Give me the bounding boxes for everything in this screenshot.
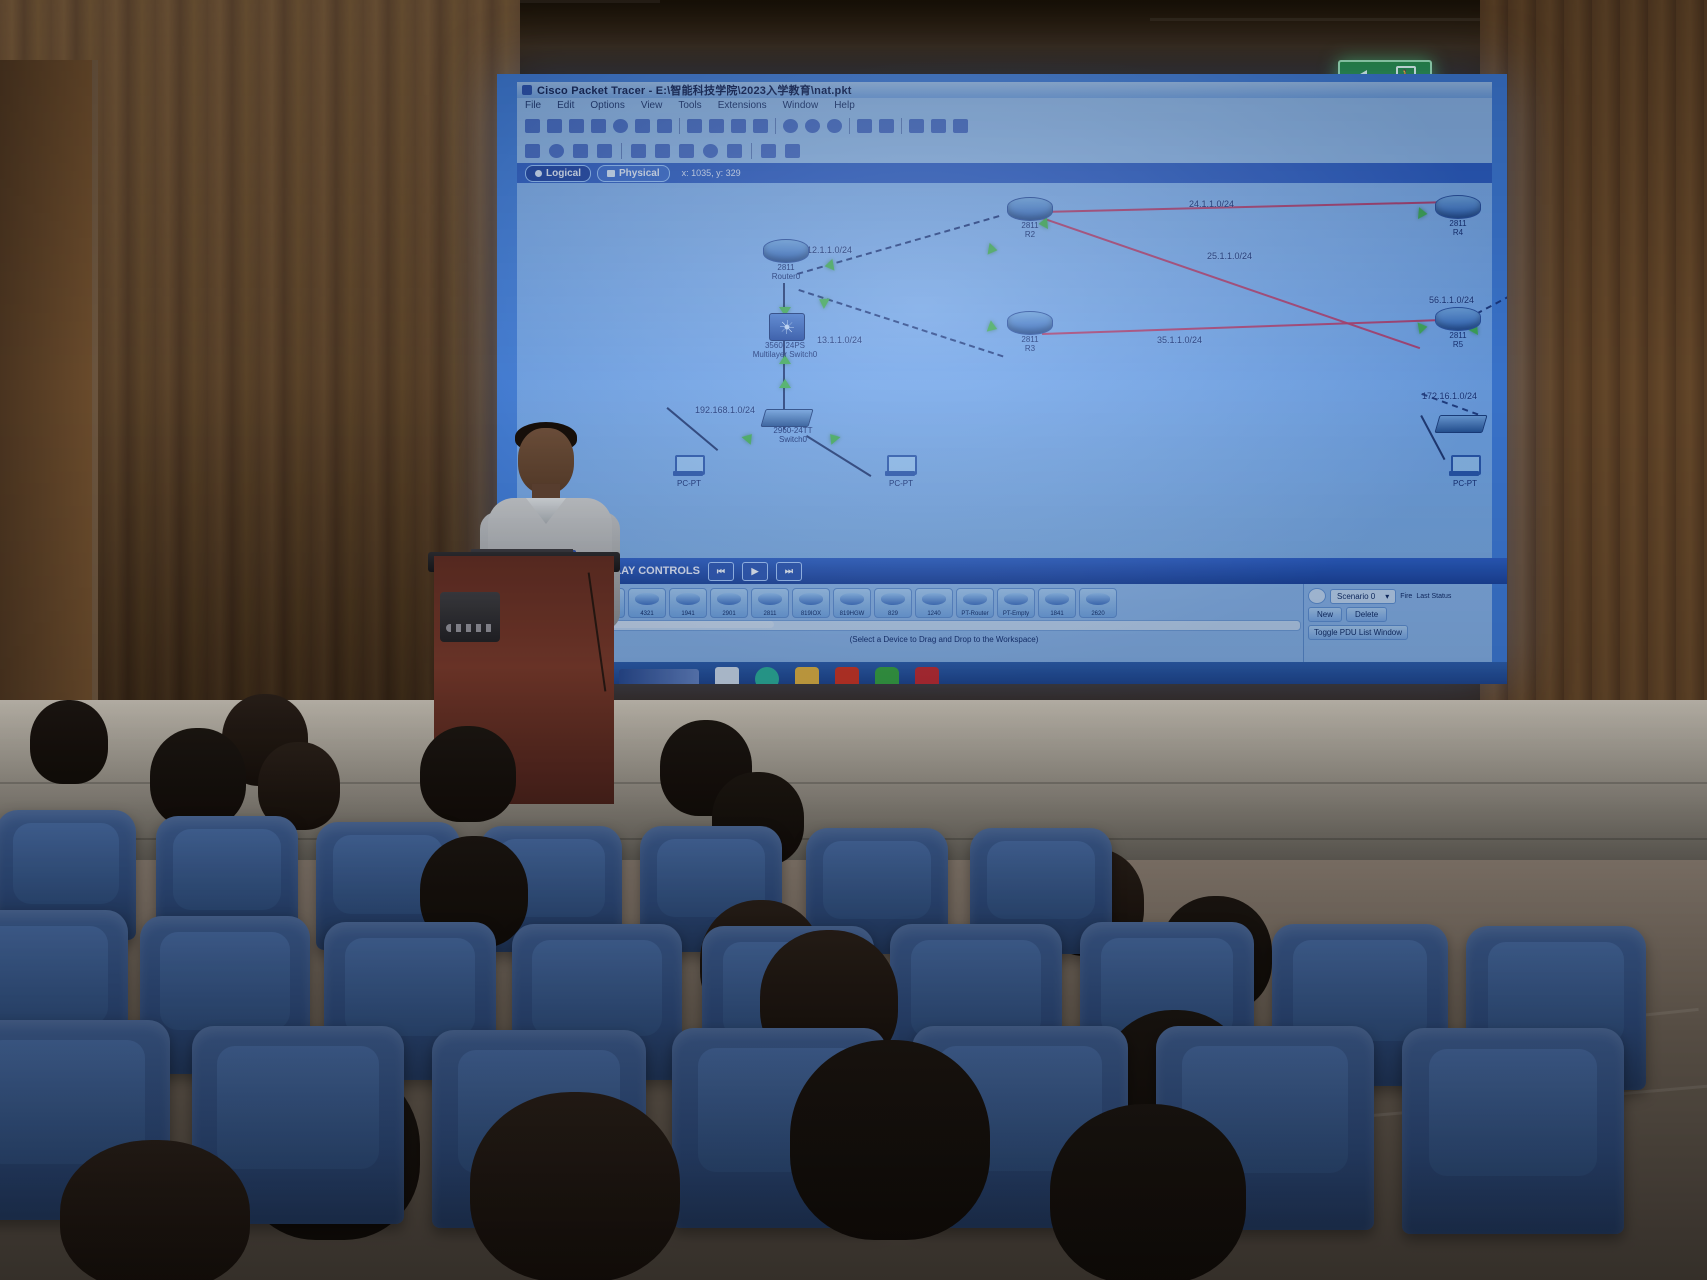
audience-head-foreground: [60, 1140, 250, 1280]
youdao-icon[interactable]: [915, 667, 939, 684]
router-icon: [1086, 593, 1110, 605]
tab-logical-label: Logical: [546, 168, 581, 179]
device-model-1240[interactable]: 1240: [915, 588, 953, 618]
simulation-header-row: Scenario 0 ▾ Fire Last Status: [1308, 588, 1488, 604]
chevron-down-icon: ▾: [1385, 592, 1389, 601]
podium-control-panel: [440, 592, 500, 642]
draw-rectangle-icon[interactable]: [679, 144, 694, 158]
menu-item-extensions[interactable]: Extensions: [718, 100, 767, 111]
link-arrow: [1418, 207, 1428, 220]
save-icon[interactable]: [569, 119, 584, 133]
device-model-pt-router[interactable]: PT-Router: [956, 588, 994, 618]
pdu-icon[interactable]: [931, 119, 946, 133]
delete-scenario-button[interactable]: Delete: [1346, 607, 1387, 622]
paste-icon[interactable]: [709, 119, 724, 133]
custom-view-icon[interactable]: [879, 119, 894, 133]
lecture-hall-photo: 🚶 Cisco Packet Tracer - E:\智能科技学院\2023入学…: [0, 0, 1707, 1280]
pc-base-icon: [885, 471, 915, 476]
device-model-1941[interactable]: 1941: [669, 588, 707, 618]
device-model-row[interactable]: 4331 4321 1941 2901 2811 819IOX 819HGW 8…: [587, 588, 1301, 618]
router-icon: [635, 593, 659, 605]
router-icon: [840, 593, 864, 605]
link-label-35: 35.1.1.0/24: [1157, 335, 1202, 345]
simple-pdu-icon[interactable]: [761, 144, 776, 158]
device-pc1[interactable]: [885, 455, 915, 477]
column-header-last-status: Last Status: [1416, 593, 1451, 600]
undo-icon[interactable]: [731, 119, 746, 133]
link-label-12: 12.1.1.0/24: [807, 245, 852, 255]
draw-divider: [621, 143, 622, 159]
device-model-2901[interactable]: 2901: [710, 588, 748, 618]
device-r3-label: 2811R3: [997, 335, 1063, 353]
device-switch0-label: 2960-24TTSwitch0: [745, 426, 841, 444]
podium-knobs: [446, 624, 494, 632]
router-icon: [758, 593, 782, 605]
cursor-coordinates: x: 1035, y: 329: [682, 168, 741, 178]
draw-freeform-icon[interactable]: [727, 144, 742, 158]
zoom-reset-icon[interactable]: [805, 119, 820, 133]
device-pc0-label: PC-PT: [657, 479, 721, 488]
link-arrow: [779, 379, 791, 388]
tab-physical[interactable]: Physical: [597, 165, 670, 182]
pc-base-icon: [1449, 471, 1479, 476]
link-label-172: 172.16.1.0/24: [1422, 391, 1477, 401]
redo-icon[interactable]: [753, 119, 768, 133]
copy-icon[interactable]: [687, 119, 702, 133]
wechat-icon[interactable]: [875, 667, 899, 684]
device-model-2620[interactable]: 2620: [1079, 588, 1117, 618]
wallpaper-thumb-icon: [619, 669, 699, 684]
zoom-in-icon[interactable]: [783, 119, 798, 133]
logical-view-icon: [535, 170, 542, 177]
door-frame: [0, 60, 98, 700]
link-label-192: 192.168.1.0/24: [695, 405, 755, 415]
cisco-packet-tracer-logo: [522, 85, 532, 95]
audience-head-foreground: [790, 1040, 990, 1240]
device-pc2[interactable]: [1449, 455, 1479, 477]
device-model-1841[interactable]: 1841: [1038, 588, 1076, 618]
menu-bar[interactable]: File Edit Options View Tools Extensions …: [517, 98, 1492, 113]
column-header-fire: Fire: [1400, 593, 1412, 600]
router-icon: [1004, 593, 1028, 605]
new-scenario-button[interactable]: New: [1308, 607, 1342, 622]
link-arrow: [824, 259, 835, 272]
device-pc1-label: PC-PT: [869, 479, 933, 488]
toolbar-divider-3: [849, 118, 850, 134]
device-switch-right[interactable]: [1434, 415, 1487, 433]
activity-wizard-icon[interactable]: [613, 119, 628, 133]
device-r5[interactable]: [1435, 307, 1481, 331]
pdu-bubble-icon[interactable]: [1308, 588, 1326, 604]
main-toolbar[interactable]: [517, 113, 1492, 139]
simulation-panel[interactable]: Scenario 0 ▾ Fire Last Status New Delete…: [1303, 584, 1492, 662]
device-r3[interactable]: [1007, 311, 1053, 335]
device-model-829[interactable]: 829: [874, 588, 912, 618]
link-r2-r5[interactable]: [1041, 217, 1420, 349]
menu-item-file[interactable]: File: [525, 100, 541, 111]
view-tab-bar[interactable]: Logical Physical x: 1035, y: 329: [517, 163, 1492, 183]
draw-ellipse-icon[interactable]: [703, 144, 718, 158]
audience-head: [150, 728, 246, 828]
router-icon: [676, 593, 700, 605]
play-icon[interactable]: ▶: [742, 562, 768, 581]
device-panel-scrollbar[interactable]: [587, 620, 1301, 631]
menu-item-edit[interactable]: Edit: [557, 100, 574, 111]
link-label-25: 25.1.1.0/24: [1207, 251, 1252, 261]
play-controls-bar[interactable]: 00:08:46 PLAY CONTROLS ⏮ ▶ ⏭: [517, 558, 1507, 584]
draw-line-icon[interactable]: [655, 144, 670, 158]
router-icon: [963, 593, 987, 605]
notes-icon[interactable]: [909, 119, 924, 133]
device-r2-label: 2811R2: [997, 221, 1063, 239]
custom-devices-icon[interactable]: [657, 119, 672, 133]
window-title-bar: Cisco Packet Tracer - E:\智能科技学院\2023入学教育…: [517, 82, 1492, 98]
tab-logical[interactable]: Logical: [525, 165, 591, 182]
device-r4[interactable]: [1435, 195, 1481, 219]
link-r3-r5[interactable]: [1042, 319, 1442, 335]
device-selection-panel[interactable]: 4331 4321 1941 2901 2811 819IOX 819HGW 8…: [517, 584, 1492, 662]
open-folder-icon[interactable]: [547, 119, 562, 133]
export-icon[interactable]: [953, 119, 968, 133]
tab-physical-label: Physical: [619, 168, 660, 179]
menu-item-options[interactable]: Options: [590, 100, 624, 111]
audience-head: [30, 700, 108, 784]
device-model-819iox[interactable]: 819IOX: [792, 588, 830, 618]
router-icon: [922, 593, 946, 605]
link-arrow: [987, 320, 1000, 334]
scenario-select-value: Scenario 0: [1337, 592, 1375, 601]
device-mls-label: 3560-24PSMultilayer Switch0: [725, 341, 845, 359]
scenario-select[interactable]: Scenario 0 ▾: [1330, 589, 1396, 604]
packet-tracer-window: Cisco Packet Tracer - E:\智能科技学院\2023入学教育…: [517, 82, 1492, 662]
device-pc0[interactable]: [673, 455, 703, 477]
device-router0[interactable]: [763, 239, 809, 263]
device-panel-hint: (Select a Device to Drag and Drop to the…: [587, 635, 1301, 644]
seat: [1402, 1028, 1624, 1234]
logical-workspace[interactable]: 12.1.1.0/24 13.1.1.0/24 24.1.1.0/24 25.1…: [517, 183, 1492, 558]
device-model-2811[interactable]: 2811: [751, 588, 789, 618]
toggle-pdu-list-window-button[interactable]: Toggle PDU List Window: [1308, 625, 1408, 640]
router-icon: [881, 593, 905, 605]
device-model-pt-empty[interactable]: PT-Empty: [997, 588, 1035, 618]
menu-item-tools[interactable]: Tools: [678, 100, 701, 111]
task-view-icon[interactable]: [715, 667, 739, 684]
wood-wall-right: [1480, 0, 1707, 760]
delete-icon[interactable]: [573, 144, 588, 158]
router-icon: [799, 593, 823, 605]
drawing-toolbar[interactable]: [517, 139, 1492, 163]
inspect-magnifier-icon[interactable]: [549, 144, 564, 158]
device-r4-label: 2811R4: [1425, 219, 1491, 237]
physical-view-icon: [607, 170, 615, 177]
link-arrow: [988, 243, 999, 256]
audience-head: [420, 726, 516, 822]
toolbar-divider: [679, 118, 680, 134]
projection-screen: Cisco Packet Tracer - E:\智能科技学院\2023入学教育…: [497, 74, 1507, 684]
device-switch0[interactable]: [760, 409, 813, 427]
print-icon[interactable]: [591, 119, 606, 133]
zoom-out-icon[interactable]: [827, 119, 842, 133]
device-pc2-label: PC-PT: [1433, 479, 1497, 488]
edge-browser-icon[interactable]: [755, 667, 779, 684]
menu-item-help[interactable]: Help: [834, 100, 855, 111]
scenario-buttons-row[interactable]: New Delete: [1308, 607, 1488, 622]
device-router0-label: 2811Router0: [753, 263, 819, 281]
palette-icon[interactable]: [857, 119, 872, 133]
device-model-819hgw[interactable]: 819HGW: [833, 588, 871, 618]
link-label-56: 56.1.1.0/24: [1429, 295, 1474, 305]
link-label-24: 24.1.1.0/24: [1189, 199, 1234, 209]
device-r2[interactable]: [1007, 197, 1053, 221]
select-icon[interactable]: [525, 144, 540, 158]
skip-forward-icon[interactable]: ⏭: [776, 562, 802, 581]
pdu-divider: [751, 143, 752, 159]
menu-item-view[interactable]: View: [641, 100, 663, 111]
file-explorer-icon[interactable]: [795, 667, 819, 684]
audience-head-foreground: [470, 1092, 680, 1280]
device-multilayer-switch0[interactable]: [769, 313, 805, 341]
toolbar-divider-2: [775, 118, 776, 134]
device-model-grid[interactable]: 4331 4321 1941 2901 2811 819IOX 819HGW 8…: [585, 584, 1303, 662]
windows-taskbar[interactable]: 搜索: [517, 662, 1507, 684]
network-info-icon[interactable]: [635, 119, 650, 133]
wps-writer-icon[interactable]: [835, 667, 859, 684]
device-model-4321[interactable]: 4321: [628, 588, 666, 618]
skip-back-icon[interactable]: ⏮: [708, 562, 734, 581]
audience-head-foreground: [1050, 1104, 1246, 1280]
window-title: Cisco Packet Tracer - E:\智能科技学院\2023入学教育…: [537, 82, 852, 98]
router-icon: [1045, 593, 1069, 605]
new-file-icon[interactable]: [525, 119, 540, 133]
menu-item-window[interactable]: Window: [783, 100, 819, 111]
place-note-icon[interactable]: [631, 144, 646, 158]
link-r2-r4[interactable]: [1042, 201, 1457, 213]
router-icon: [717, 593, 741, 605]
resize-shape-icon[interactable]: [597, 144, 612, 158]
toolbar-divider-4: [901, 118, 902, 134]
device-r5-label: 2811R5: [1425, 331, 1491, 349]
complex-pdu-icon[interactable]: [785, 144, 800, 158]
toggle-row[interactable]: Toggle PDU List Window: [1308, 625, 1488, 640]
pc-base-icon: [673, 471, 703, 476]
